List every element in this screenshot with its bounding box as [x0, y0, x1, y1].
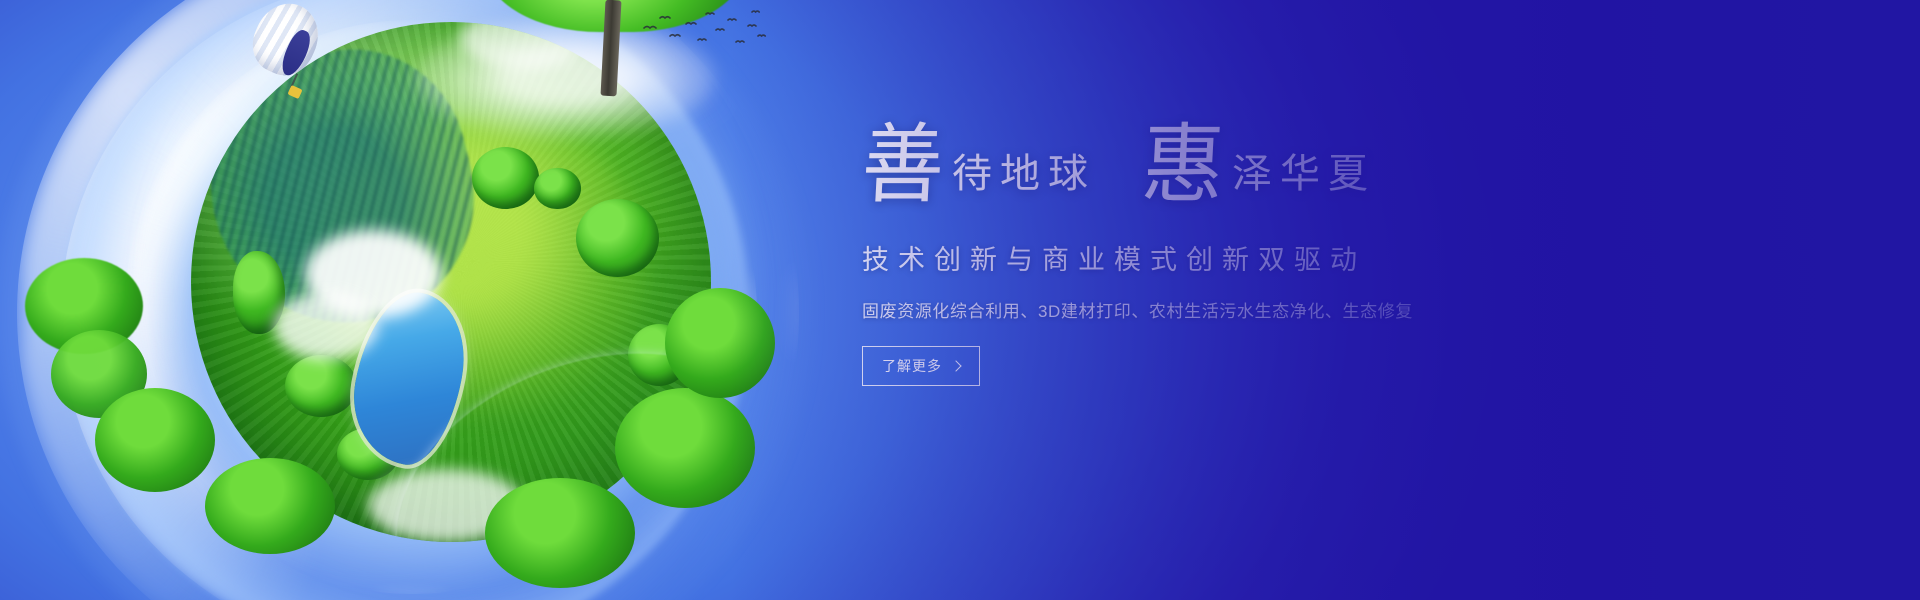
tree-cluster [233, 251, 285, 334]
description: 固废资源化综合利用、3D建材打印、农村生活污水生态净化、生态修复 [862, 297, 1502, 322]
green-globe [191, 22, 711, 542]
tree-cluster [337, 428, 399, 480]
tree-cluster [576, 199, 659, 277]
cloud-band-inner [125, 20, 699, 594]
hero-banner: 善 待地球 惠 泽华夏 技术创新与商业模式创新双驱动 固废资源化综合利用、3D建… [0, 0, 1920, 600]
river [355, 301, 711, 542]
learn-more-label: 了解更多 [882, 356, 942, 376]
tree-trunk [600, 0, 621, 96]
big-tree [485, 0, 745, 82]
tree-mist [415, 18, 715, 138]
tree-cluster [534, 168, 581, 210]
atmosphere-glow [0, 0, 815, 600]
subtitle: 技术创新与商业模式创新双驱动 [862, 238, 1502, 277]
tree-canopy [485, 0, 745, 32]
chevron-right-icon [950, 360, 961, 371]
hero-text-block: 善 待地球 惠 泽华夏 技术创新与商业模式创新双驱动 固废资源化综合利用、3D建… [862, 126, 1502, 386]
headline-phrase-2: 惠 泽华夏 [1142, 126, 1376, 206]
balloon-stripe [277, 27, 315, 79]
birds-icon [640, 6, 770, 52]
headline-small-text-1: 待地球 [946, 154, 1096, 194]
meadow-highlight [316, 116, 649, 418]
tree-cluster [628, 324, 690, 386]
balloon-envelope [243, 0, 329, 84]
tree-cluster [285, 355, 358, 417]
rim-tree [615, 388, 755, 508]
tiny-planet-illustration [55, 0, 755, 600]
hot-air-balloon-icon [255, 3, 317, 107]
learn-more-button[interactable]: 了解更多 [862, 346, 980, 386]
tree-cluster [472, 147, 540, 209]
lake [343, 285, 475, 472]
headline-small-text-2: 泽华夏 [1226, 154, 1376, 194]
surface-cloud [368, 469, 524, 542]
cloud-band-mid [61, 0, 757, 600]
rim-tree [25, 258, 143, 354]
rim-tree [51, 330, 147, 418]
rim-tree [665, 288, 775, 398]
headline-big-char-2: 惠 [1140, 124, 1226, 209]
surface-cloud [274, 292, 378, 360]
mountain-ridge [191, 26, 501, 351]
headline-phrase-1: 善 待地球 [862, 126, 1096, 206]
headline: 善 待地球 惠 泽华夏 [862, 126, 1502, 218]
surface-cloud [305, 230, 440, 318]
balloon-basket [287, 85, 302, 99]
rim-tree [485, 478, 635, 588]
river-bank [385, 295, 711, 542]
rim-tree [95, 388, 215, 492]
grass-texture [191, 22, 711, 542]
cloud-band-outer [17, 0, 799, 600]
rim-tree [205, 458, 335, 554]
surface-cloud [461, 22, 586, 69]
headline-big-char-1: 善 [860, 124, 946, 209]
balloon-cord [290, 73, 298, 88]
sky-ring [63, 0, 749, 600]
